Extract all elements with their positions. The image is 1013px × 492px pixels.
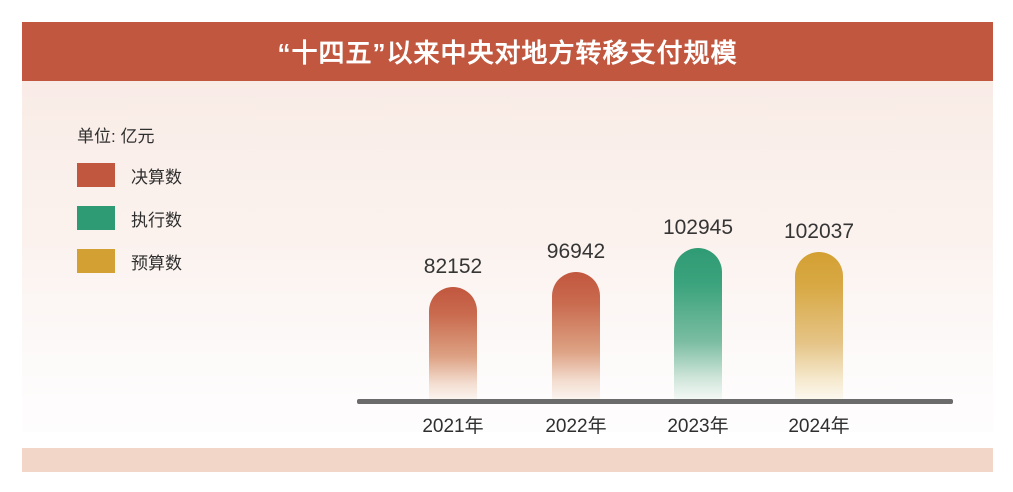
chart-title-bar: “十四五”以来中央对地方转移支付规模 xyxy=(22,22,993,81)
chart-legend: 单位: 亿元 决算数 执行数 预算数 xyxy=(77,122,277,292)
legend-unit-label: 单位: 亿元 xyxy=(77,122,277,147)
legend-swatch-juesuanshu xyxy=(77,163,115,187)
chart-card: “十四五”以来中央对地方转移支付规模 单位: 亿元 决算数 执行数 预算数 xyxy=(22,22,993,432)
legend-label-zhixingshu: 执行数 xyxy=(131,206,182,231)
bar-series: 82152 96942 102945 102037 xyxy=(335,81,975,432)
bar-2022[interactable] xyxy=(552,272,600,399)
bar-value-2023: 102945 xyxy=(637,216,759,240)
bar-group-2022: 96942 xyxy=(515,114,637,399)
bar-2023[interactable] xyxy=(674,248,722,399)
x-axis-tick-labels: 2021年 2022年 2023年 2024年 xyxy=(335,411,975,445)
bar-2021[interactable] xyxy=(429,287,477,399)
legend-swatch-yusuanshu xyxy=(77,249,115,273)
x-tick-2021: 2021年 xyxy=(392,411,514,438)
bar-group-2023: 102945 xyxy=(637,114,759,399)
x-axis-line xyxy=(357,399,953,404)
legend-label-juesuanshu: 决算数 xyxy=(131,163,182,188)
page-title: “十四五”以来中央对地方转移支付规模 xyxy=(277,33,737,70)
footer-accent-bar xyxy=(22,448,993,472)
plot-area: 82152 96942 102945 102037 xyxy=(335,81,975,432)
x-tick-2024: 2024年 xyxy=(758,411,880,438)
legend-label-yusuanshu: 预算数 xyxy=(131,249,182,274)
bar-group-2024: 102037 xyxy=(758,114,880,399)
legend-item-juesuanshu[interactable]: 决算数 xyxy=(77,163,277,187)
legend-item-yusuanshu[interactable]: 预算数 xyxy=(77,249,277,273)
bar-value-2021: 82152 xyxy=(392,255,514,279)
bar-value-2024: 102037 xyxy=(758,220,880,244)
x-tick-2023: 2023年 xyxy=(637,411,759,438)
chart-page: “十四五”以来中央对地方转移支付规模 单位: 亿元 决算数 执行数 预算数 xyxy=(0,0,1013,492)
x-tick-2022: 2022年 xyxy=(515,411,637,438)
chart-body: 单位: 亿元 决算数 执行数 预算数 82152 xyxy=(22,81,993,432)
legend-item-zhixingshu[interactable]: 执行数 xyxy=(77,206,277,230)
bar-group-2021: 82152 xyxy=(392,114,514,399)
bar-value-2022: 96942 xyxy=(515,240,637,264)
legend-swatch-zhixingshu xyxy=(77,206,115,230)
bar-2024[interactable] xyxy=(795,252,843,399)
